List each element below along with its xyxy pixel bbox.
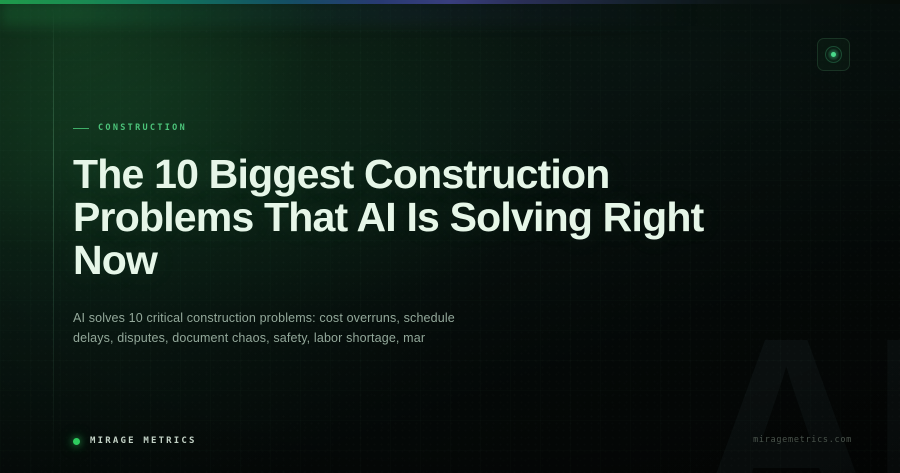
category-eyebrow: CONSTRUCTION [73, 123, 187, 133]
footer-url: miragemetrics.com [753, 435, 852, 445]
record-core-icon [831, 52, 836, 57]
status-dot-icon [73, 438, 80, 445]
page-subtitle: AI solves 10 critical construction probl… [73, 308, 493, 348]
eyebrow-dash-icon [73, 128, 89, 129]
record-dot-icon [825, 46, 842, 63]
page-title: The 10 Biggest Construction Problems Tha… [73, 153, 713, 282]
eyebrow-label: CONSTRUCTION [98, 123, 187, 133]
top-accent-bar [0, 0, 900, 4]
left-vertical-rule [53, 8, 54, 467]
footer-brand: MIRAGE METRICS [73, 436, 197, 446]
slide-canvas: AI CONSTRUCTION The 10 Biggest Construct… [0, 0, 900, 473]
brand-name: MIRAGE METRICS [90, 436, 197, 446]
record-button[interactable] [817, 38, 850, 71]
